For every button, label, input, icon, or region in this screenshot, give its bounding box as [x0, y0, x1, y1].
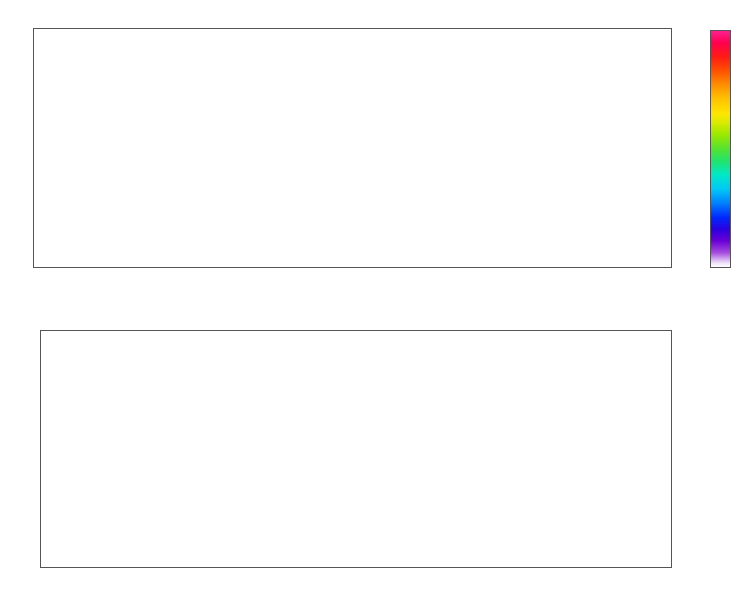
- figure-root: [0, 0, 750, 600]
- snr-trace: [40, 330, 672, 568]
- spectrogram-overflow-canvas: [672, 28, 698, 268]
- colorbar: [710, 30, 731, 268]
- snr-plot-area: [40, 330, 672, 568]
- spectrogram-overflow-echo: [672, 28, 698, 268]
- spectrogram-image: [33, 28, 672, 268]
- spectrogram-canvas: [33, 28, 672, 268]
